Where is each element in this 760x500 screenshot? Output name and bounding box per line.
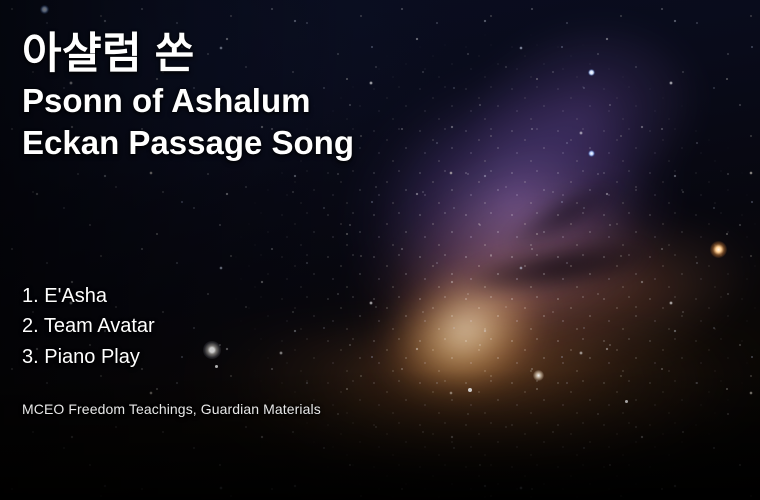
list-item: 1. E'Asha <box>22 281 155 311</box>
slide-content: 아샬럼 쏜 Psonn of Ashalum Eckan Passage Son… <box>0 0 760 500</box>
title-korean: 아샬럼 쏜 <box>22 30 542 78</box>
title-english-line-1: Psonn of Ashalum <box>22 80 542 122</box>
track-list: 1. E'Asha 2. Team Avatar 3. Piano Play <box>22 281 155 372</box>
title-block: 아샬럼 쏜 Psonn of Ashalum Eckan Passage Son… <box>22 30 542 165</box>
slide-canvas: 아샬럼 쏜 Psonn of Ashalum Eckan Passage Son… <box>0 0 760 500</box>
list-item: 2. Team Avatar <box>22 311 155 341</box>
list-item: 3. Piano Play <box>22 342 155 372</box>
footer-credit: MCEO Freedom Teachings, Guardian Materia… <box>22 401 321 417</box>
title-english-line-2: Eckan Passage Song <box>22 122 542 164</box>
